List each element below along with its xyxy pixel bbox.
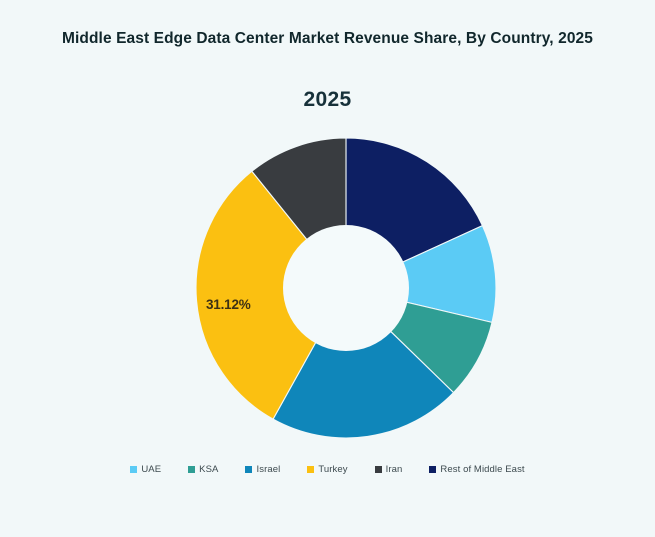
legend-item[interactable]: UAE xyxy=(130,464,161,475)
slice-value-label-turkey: 31.12% xyxy=(206,297,251,312)
donut-chart xyxy=(196,138,496,438)
legend-swatch-icon xyxy=(429,466,436,473)
donut-chart-svg xyxy=(196,138,496,438)
legend-swatch-icon xyxy=(245,466,252,473)
legend-swatch-icon xyxy=(375,466,382,473)
legend-item-label: Rest of Middle East xyxy=(440,464,524,475)
chart-card: Middle East Edge Data Center Market Reve… xyxy=(0,0,655,537)
chart-legend: UAEKSAIsraelTurkeyIranRest of Middle Eas… xyxy=(0,464,655,475)
legend-item[interactable]: Turkey xyxy=(307,464,347,475)
legend-item[interactable]: Iran xyxy=(375,464,403,475)
donut-center-hole xyxy=(283,225,409,351)
legend-item-label: Iran xyxy=(386,464,403,475)
legend-swatch-icon xyxy=(188,466,195,473)
legend-swatch-icon xyxy=(307,466,314,473)
legend-item-label: Turkey xyxy=(318,464,347,475)
legend-item[interactable]: Israel xyxy=(245,464,280,475)
legend-item-label: KSA xyxy=(199,464,218,475)
legend-item-label: Israel xyxy=(256,464,280,475)
chart-subtitle-year: 2025 xyxy=(0,88,655,112)
legend-item-label: UAE xyxy=(141,464,161,475)
page-title: Middle East Edge Data Center Market Reve… xyxy=(0,30,655,48)
legend-item[interactable]: KSA xyxy=(188,464,218,475)
legend-swatch-icon xyxy=(130,466,137,473)
legend-item[interactable]: Rest of Middle East xyxy=(429,464,524,475)
